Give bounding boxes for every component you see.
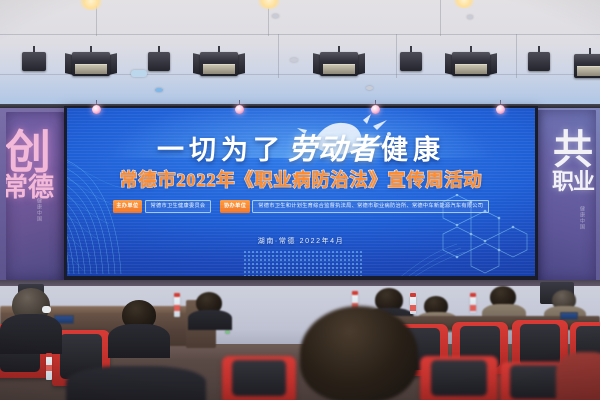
- ceiling-fixture: [366, 86, 373, 90]
- desk-monitor: [560, 312, 578, 320]
- audience-shoulders: [108, 324, 170, 358]
- auditorium-seat: [420, 356, 498, 400]
- pink-hanging-light: [235, 105, 244, 114]
- banner-right-subtext: 健康中国: [579, 206, 586, 230]
- ceiling-downlight: [78, 0, 104, 10]
- water-bottle: [46, 356, 52, 380]
- screenshot-root: 创 常德 健康中国 共 职业 健康中国: [0, 0, 600, 400]
- ceiling-fixture: [155, 88, 163, 92]
- ceiling-seam: [0, 34, 600, 35]
- foreground-shoulders: [66, 366, 206, 400]
- screen-place-date: 湖南·常德 2022年4月: [67, 236, 535, 246]
- organizer-row: 主办单位 常德市卫生健康委员会 协办单位 常德市卫生和计划生育综合监督执法局、常…: [67, 200, 535, 213]
- organizer-tag-main: 主办单位: [113, 200, 142, 213]
- banner-left-glyph-top: 创: [6, 132, 51, 174]
- banner-right-glyphs: 共 职业: [552, 132, 594, 192]
- ceiling-downlight: [452, 0, 476, 8]
- ceiling-downlight: [256, 0, 282, 9]
- water-bottle: [410, 296, 416, 314]
- screen-subtitle: 常德市2022年《职业病防治法》宣传周活动: [67, 166, 535, 192]
- water-bottle: [174, 296, 180, 317]
- led-screen: 一切为了劳动者健康 常德市2022年《职业病防治法》宣传周活动 主办单位 常德市…: [67, 108, 535, 276]
- ceiling-seam-vertical: [440, 0, 441, 36]
- organizer-group-main: 主办单位 常德市卫生健康委员会: [113, 200, 212, 213]
- organizer-value-co: 常德市卫生和计划生育综合监督执法局、常德市职业病防治所、常德中车新能源汽车有限公…: [252, 200, 489, 213]
- banner-left-glyphs: 创 常德: [6, 132, 54, 200]
- ceiling-seam-vertical: [278, 34, 279, 78]
- ceiling-seam-vertical: [516, 34, 517, 78]
- foreground-shoulders: [556, 352, 600, 400]
- pink-hanging-light: [496, 105, 505, 114]
- banner-left-subtext: 健康中国: [36, 198, 43, 222]
- screen-title-main: 一切为了劳动者健康: [67, 126, 535, 168]
- water-bottle: [470, 296, 476, 313]
- organizer-group-co: 协办单位 常德市卫生和计划生育综合监督执法局、常德市职业病防治所、常德中车新能源…: [220, 200, 489, 213]
- banner-right-glyph-bottom: 职业: [552, 172, 594, 192]
- audience-shoulders: [188, 310, 232, 330]
- title-part-2: 健康: [381, 135, 445, 165]
- ceiling-fixture: [290, 58, 298, 62]
- face-mask: [42, 306, 51, 313]
- audience-shoulders: [0, 314, 62, 354]
- floor-marker: [225, 330, 230, 334]
- ceiling-seam-vertical: [396, 34, 397, 78]
- ceiling-fixture: [131, 70, 147, 77]
- title-part-1: 一切为了: [157, 135, 285, 165]
- pink-hanging-light: [92, 105, 101, 114]
- ceiling-fixture: [272, 14, 279, 18]
- title-accent: 劳动者: [285, 134, 381, 166]
- organizer-value-main: 常德市卫生健康委员会: [145, 200, 212, 213]
- dot-grid-decoration: [243, 250, 363, 276]
- organizer-tag-co: 协办单位: [220, 200, 249, 213]
- banner-right-glyph-top: 共: [553, 132, 593, 169]
- auditorium-seat: [222, 356, 296, 400]
- foreground-head: [300, 306, 418, 400]
- banner-right: 共 职业 健康中国: [534, 110, 596, 282]
- pink-hanging-light: [371, 105, 380, 114]
- ceiling-fixture: [467, 15, 473, 19]
- banner-left: 创 常德 健康中国: [6, 112, 64, 280]
- banner-left-glyph-bottom: 常德: [6, 176, 54, 200]
